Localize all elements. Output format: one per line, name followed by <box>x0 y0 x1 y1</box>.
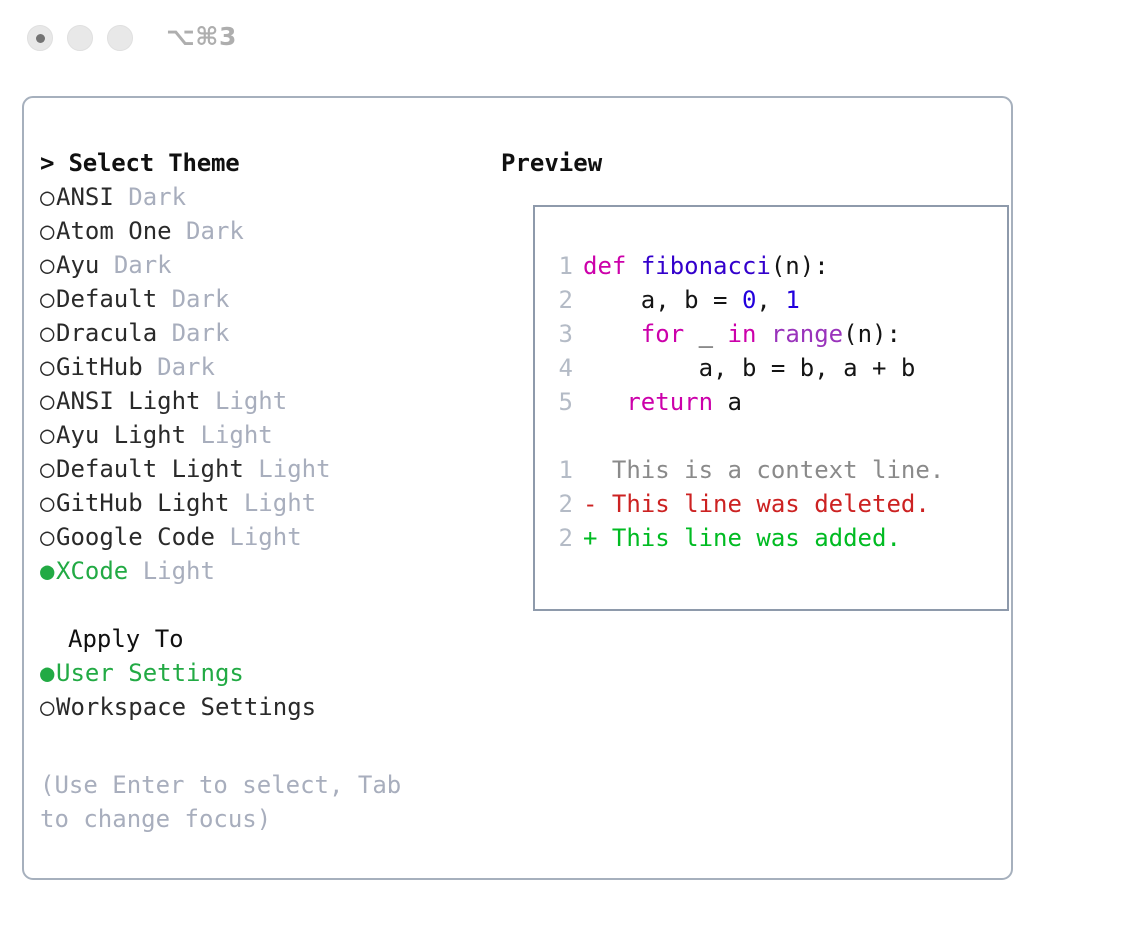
radio-unselected-icon: ○ <box>40 690 56 724</box>
theme-option-kind: Dark <box>128 183 186 211</box>
code-token-pln: a <box>713 388 742 416</box>
theme-option-label: Atom One <box>56 217 172 245</box>
window-titlebar: ⌥⌘3 <box>0 0 1140 78</box>
code-token-pln: (n): <box>843 320 901 348</box>
diff-text: This line was deleted. <box>597 490 929 518</box>
theme-option-kind: Light <box>229 523 301 551</box>
radio-unselected-icon: ○ <box>40 452 56 486</box>
radio-unselected-icon: ○ <box>40 214 56 248</box>
theme-option-label: Ayu <box>56 251 99 279</box>
radio-unselected-icon: ○ <box>40 248 56 282</box>
theme-option-ayu[interactable]: ○Ayu Dark <box>40 248 470 282</box>
theme-option-label: Google Code <box>56 523 215 551</box>
code-token-pln: _ <box>684 320 727 348</box>
code-token-kw: in <box>728 320 757 348</box>
code-token-num: 1 <box>785 286 799 314</box>
radio-selected-icon: ● <box>40 656 56 690</box>
apply-to-option-workspace-settings[interactable]: ○Workspace Settings <box>40 690 470 724</box>
code-token-pln <box>626 252 640 280</box>
diff-marker: - <box>583 490 597 518</box>
code-diff-spacer <box>551 419 999 453</box>
theme-option-kind: Light <box>201 421 273 449</box>
theme-option-ansi[interactable]: ○ANSI Dark <box>40 180 470 214</box>
theme-option-kind: Dark <box>157 353 215 381</box>
traffic-light-dot-icon <box>36 34 45 43</box>
diff-line-ctx: 1 This is a context line. <box>551 453 999 487</box>
theme-option-ansi-light[interactable]: ○ANSI Light Light <box>40 384 470 418</box>
line-number: 4 <box>551 351 573 385</box>
code-token-num: 0 <box>742 286 756 314</box>
theme-option-kind: Light <box>258 455 330 483</box>
code-token-pln: a, b = <box>583 286 742 314</box>
theme-option-kind: Dark <box>172 285 230 313</box>
theme-option-kind: Dark <box>186 217 244 245</box>
diff-sample: 1 This is a context line.2- This line wa… <box>551 453 999 555</box>
traffic-light-3-icon[interactable] <box>107 25 133 51</box>
code-token-pln <box>583 388 626 416</box>
radio-selected-icon: ● <box>40 554 56 588</box>
theme-list: ○ANSI Dark○Atom One Dark○Ayu Dark○Defaul… <box>40 180 470 588</box>
code-token-pln <box>583 320 641 348</box>
radio-unselected-icon: ○ <box>40 282 56 316</box>
code-sample: 1def fibonacci(n):2 a, b = 0, 13 for _ i… <box>551 249 999 419</box>
code-line: 3 for _ in range(n): <box>551 317 999 351</box>
radio-unselected-icon: ○ <box>40 520 56 554</box>
theme-option-label: ANSI Light <box>56 387 201 415</box>
radio-unselected-icon: ○ <box>40 486 56 520</box>
radio-unselected-icon: ○ <box>40 350 56 384</box>
diff-marker <box>583 456 597 484</box>
theme-option-label: GitHub Light <box>56 489 229 517</box>
diff-text: This is a context line. <box>597 456 944 484</box>
radio-unselected-icon: ○ <box>40 316 56 350</box>
theme-option-github[interactable]: ○GitHub Dark <box>40 350 470 384</box>
diff-line-add: 2+ This line was added. <box>551 521 999 555</box>
keyboard-shortcut-label: ⌥⌘3 <box>166 22 237 51</box>
theme-option-github-light[interactable]: ○GitHub Light Light <box>40 486 470 520</box>
theme-option-kind: Dark <box>172 319 230 347</box>
code-token-kw: return <box>626 388 713 416</box>
page-title: > Select Theme <box>40 146 470 180</box>
apply-to-option-label: Workspace Settings <box>56 693 316 721</box>
theme-option-kind: Light <box>244 489 316 517</box>
theme-option-ayu-light[interactable]: ○Ayu Light Light <box>40 418 470 452</box>
code-token-pln: , <box>756 286 785 314</box>
line-number: 2 <box>551 283 573 317</box>
code-token-pln <box>756 320 770 348</box>
apply-to-section: Apply To ●User Settings○Workspace Settin… <box>40 622 470 724</box>
traffic-light-2-icon[interactable] <box>67 25 93 51</box>
code-token-kw: def <box>583 252 626 280</box>
code-token-bi: range <box>771 320 843 348</box>
radio-unselected-icon: ○ <box>40 180 56 214</box>
code-token-fn: fibonacci <box>641 252 771 280</box>
preview-box: 1def fibonacci(n):2 a, b = 0, 13 for _ i… <box>533 205 1009 611</box>
theme-option-label: Ayu Light <box>56 421 186 449</box>
theme-option-label: Dracula <box>56 319 157 347</box>
code-line: 4 a, b = b, a + b <box>551 351 999 385</box>
code-token-pln: (n): <box>771 252 829 280</box>
preview-column: Preview 1def fibonacci(n):2 a, b = 0, 13… <box>501 146 1001 180</box>
line-number: 2 <box>551 521 573 555</box>
theme-option-atom-one[interactable]: ○Atom One Dark <box>40 214 470 248</box>
keyboard-hint-text: (Use Enter to select, Tab to change focu… <box>40 768 440 836</box>
theme-selection-column: > Select Theme ○ANSI Dark○Atom One Dark○… <box>40 146 470 836</box>
theme-option-google-code[interactable]: ○Google Code Light <box>40 520 470 554</box>
theme-option-default-light[interactable]: ○Default Light Light <box>40 452 470 486</box>
line-number: 1 <box>551 453 573 487</box>
theme-option-kind: Light <box>215 387 287 415</box>
code-token-kw: for <box>641 320 684 348</box>
theme-option-label: XCode <box>56 557 128 585</box>
apply-to-heading: Apply To <box>40 622 470 656</box>
diff-marker: + <box>583 524 597 552</box>
theme-picker-panel: > Select Theme ○ANSI Dark○Atom One Dark○… <box>22 96 1013 880</box>
line-number: 2 <box>551 487 573 521</box>
code-line: 5 return a <box>551 385 999 419</box>
theme-option-label: GitHub <box>56 353 143 381</box>
preview-code-area: 1def fibonacci(n):2 a, b = 0, 13 for _ i… <box>551 249 999 555</box>
theme-option-dracula[interactable]: ○Dracula Dark <box>40 316 470 350</box>
theme-option-xcode[interactable]: ●XCode Light <box>40 554 470 588</box>
apply-to-option-label: User Settings <box>56 659 244 687</box>
code-line: 2 a, b = 0, 1 <box>551 283 999 317</box>
apply-to-option-user-settings[interactable]: ●User Settings <box>40 656 470 690</box>
diff-text: This line was added. <box>597 524 900 552</box>
radio-unselected-icon: ○ <box>40 418 56 452</box>
radio-unselected-icon: ○ <box>40 384 56 418</box>
apply-to-options: ●User Settings○Workspace Settings <box>40 656 470 724</box>
preview-heading: Preview <box>501 146 1001 180</box>
theme-option-label: Default <box>56 285 157 313</box>
theme-option-label: ANSI <box>56 183 114 211</box>
theme-option-kind: Dark <box>114 251 172 279</box>
code-line: 1def fibonacci(n): <box>551 249 999 283</box>
diff-line-del: 2- This line was deleted. <box>551 487 999 521</box>
line-number: 1 <box>551 249 573 283</box>
theme-option-label: Default Light <box>56 455 244 483</box>
code-token-pln: a, b = b, a + b <box>583 354 915 382</box>
theme-option-kind: Light <box>143 557 215 585</box>
traffic-light-active-icon[interactable] <box>27 25 53 51</box>
line-number: 3 <box>551 317 573 351</box>
line-number: 5 <box>551 385 573 419</box>
theme-option-default[interactable]: ○Default Dark <box>40 282 470 316</box>
